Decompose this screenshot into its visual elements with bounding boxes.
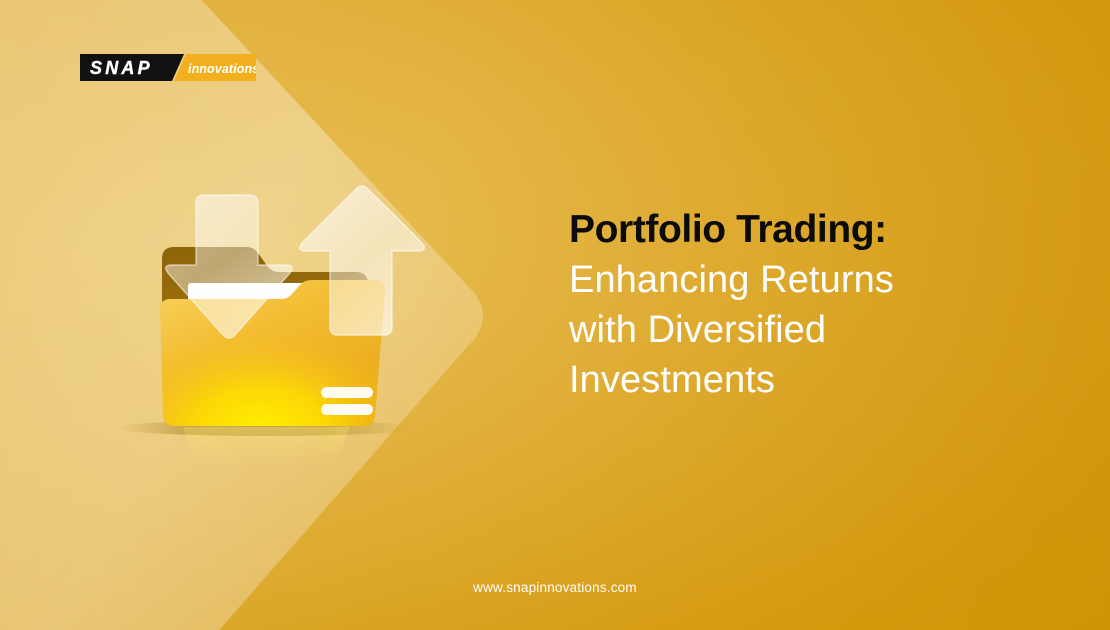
subtitle-line-3: Investments: [569, 355, 1039, 405]
subtitle-line-1: Enhancing Returns: [569, 255, 1039, 305]
folder-bar-2: [321, 404, 373, 415]
page-subtitle: Enhancing Returns with Diversified Inves…: [569, 255, 1039, 405]
subtitle-line-2: with Diversified: [569, 305, 1039, 355]
brand-logo[interactable]: SNAP innovations SNAP innovations: [80, 54, 256, 81]
logo-secondary-text: innovations: [188, 62, 256, 76]
folder-illustration: [78, 175, 448, 475]
logo-primary-text: SNAP: [90, 58, 153, 78]
page-title: Portfolio Trading:: [569, 205, 1039, 255]
footer-website-url[interactable]: www.snapinnovations.com: [0, 580, 1110, 595]
folder-reflection: [183, 427, 350, 465]
folder-bar-1: [321, 387, 373, 398]
headline-block: Portfolio Trading: Enhancing Returns wit…: [569, 205, 1039, 405]
poster-canvas: SNAP innovations SNAP innovations: [0, 0, 1110, 630]
